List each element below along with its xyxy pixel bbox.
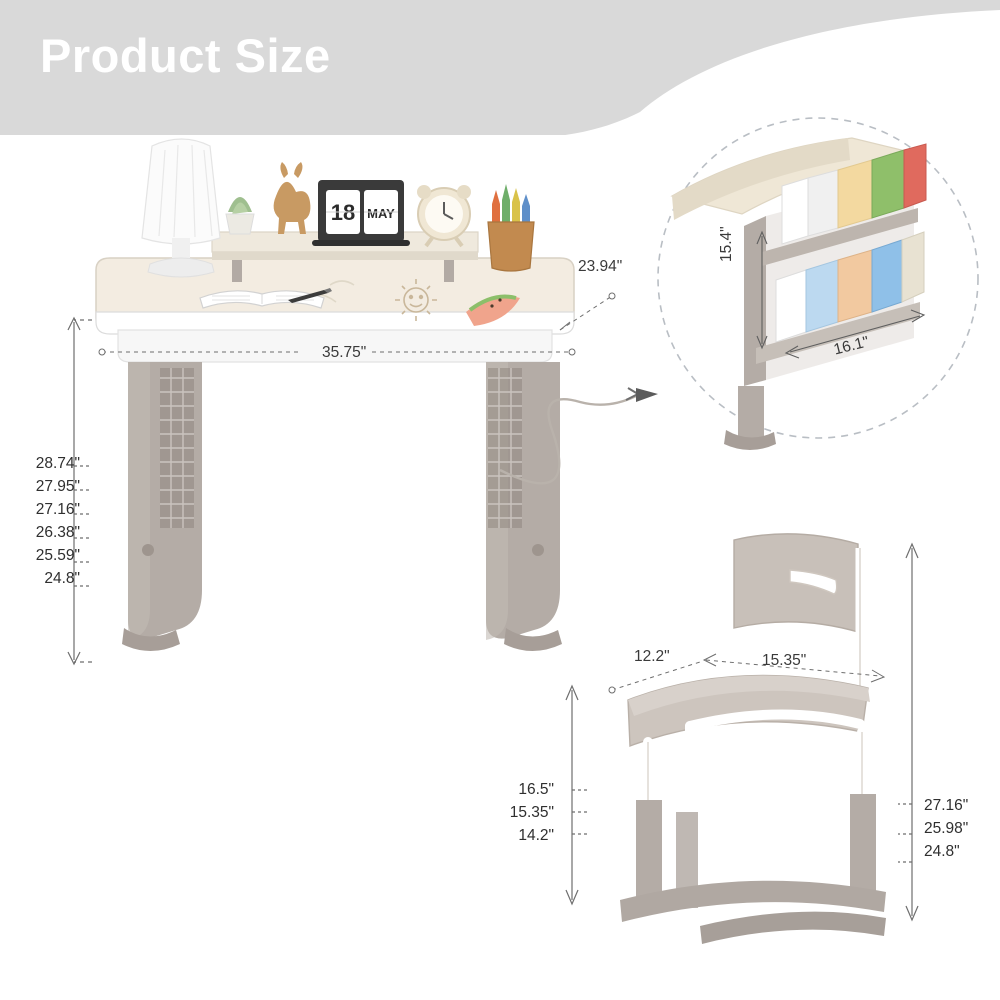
chair-back-height-option-0: 16.5" [478, 778, 554, 801]
chair-total-height-option-1: 25.98" [924, 817, 996, 840]
deer-figurine-icon [274, 162, 311, 234]
plant-icon [226, 197, 254, 234]
desk-width-label: 35.75" [322, 344, 366, 362]
callout-circle [658, 118, 978, 450]
chair-back-height-options: 16.5" 15.35" 14.2" [478, 778, 554, 847]
calendar-month-text: MAY [367, 206, 395, 221]
chair-back-height-option-1: 15.35" [478, 801, 554, 824]
desk-height-option-3: 26.38" [0, 521, 80, 544]
chair-total-height-dimension [898, 544, 918, 920]
chair-total-height-option-0: 27.16" [924, 794, 996, 817]
lamp-icon [142, 139, 220, 277]
flip-calendar-icon: 18 MAY [312, 180, 410, 246]
desk-height-option-4: 25.59" [0, 544, 80, 567]
chair-illustration [566, 534, 918, 944]
desk-depth-label: 23.94" [578, 258, 622, 276]
chair-seat-width-label: 15.35" [762, 652, 806, 670]
desk-height-option-2: 27.16" [0, 498, 80, 521]
desk-height-options: 28.74" 27.95" 27.16" 26.38" 25.59" 24.8" [0, 452, 80, 590]
chair-total-height-option-2: 24.8" [924, 840, 996, 863]
chair-total-height-options: 27.16" 25.98" 24.8" [924, 794, 996, 863]
chair-back-height-dimension [566, 686, 588, 904]
desk-illustration: 18 MAY [0, 0, 1000, 1000]
desk-height-option-0: 28.74" [0, 452, 80, 475]
desk-leg-left [122, 362, 202, 651]
chair-back-height-option-2: 14.2" [478, 824, 554, 847]
chair-seat-depth-label: 12.2" [634, 648, 670, 666]
product-size-infographic: Product Size [0, 0, 1000, 1000]
callout-height-label: 15.4" [718, 226, 736, 262]
desk-height-option-5: 24.8" [0, 567, 80, 590]
desk-height-option-1: 27.95" [0, 475, 80, 498]
pencil-cup-icon [488, 184, 534, 271]
page-title: Product Size [40, 28, 331, 83]
